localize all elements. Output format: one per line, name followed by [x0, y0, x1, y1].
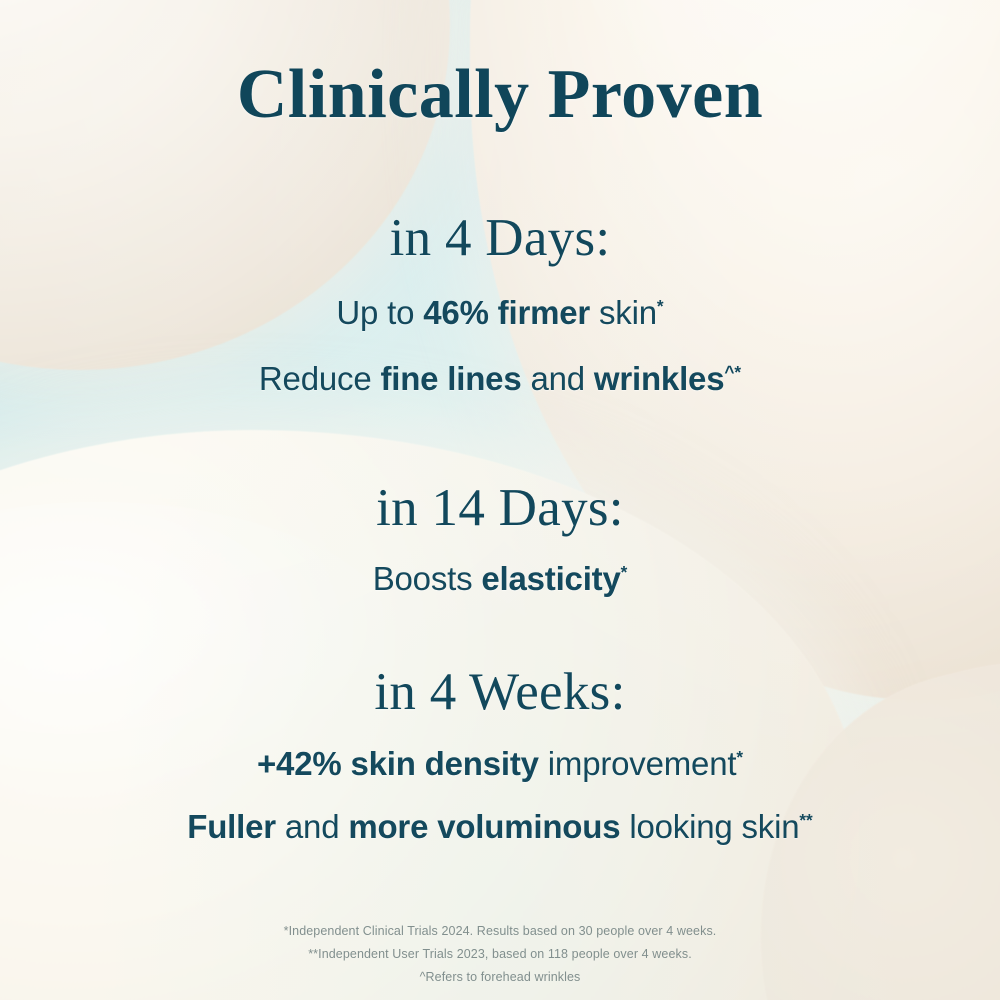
claim-text-segment: Reduce — [259, 360, 381, 397]
footnote-marker: * — [621, 562, 628, 582]
claim-bold-segment: fine lines — [380, 360, 521, 397]
stage-heading-14-days: in 14 Days: — [0, 478, 1000, 538]
claim-firmer-skin: Up to 46% firmer skin* — [0, 294, 1000, 332]
claim-bold-segment: 46% firmer — [423, 294, 590, 331]
claim-fine-lines-wrinkles: Reduce fine lines and wrinkles^* — [0, 360, 1000, 398]
stage-heading-4-weeks: in 4 Weeks: — [0, 662, 1000, 722]
footnote-marker: * — [657, 296, 664, 316]
claim-text-segment: skin — [590, 294, 657, 331]
page-title: Clinically Proven — [0, 58, 1000, 132]
claim-text-segment: and — [521, 360, 593, 397]
footnote-line: *Independent Clinical Trials 2024. Resul… — [0, 920, 1000, 943]
claim-fuller-voluminous: Fuller and more voluminous looking skin*… — [0, 808, 1000, 846]
footnote-marker: ** — [799, 810, 812, 830]
claim-text-segment: Boosts — [373, 560, 482, 597]
claim-skin-density: +42% skin density improvement* — [0, 745, 1000, 783]
footnote-line: **Independent User Trials 2023, based on… — [0, 943, 1000, 966]
claim-text-segment: improvement — [539, 745, 737, 782]
claim-text-segment: Up to — [336, 294, 423, 331]
footnotes-block: *Independent Clinical Trials 2024. Resul… — [0, 920, 1000, 989]
footnote-line: ^Refers to forehead wrinkles — [0, 966, 1000, 989]
claim-bold-segment: more voluminous — [348, 808, 620, 845]
claim-boosts-elasticity: Boosts elasticity* — [0, 560, 1000, 598]
claim-bold-segment: Fuller — [187, 808, 276, 845]
poster-content: Clinically Proven in 4 Days: Up to 46% f… — [0, 0, 1000, 1000]
claim-text-segment: looking skin — [620, 808, 799, 845]
claim-bold-segment: wrinkles — [594, 360, 724, 397]
claim-bold-segment: +42% skin density — [257, 745, 539, 782]
footnote-marker: * — [736, 747, 743, 767]
clinical-claims-poster: Clinically Proven in 4 Days: Up to 46% f… — [0, 0, 1000, 1000]
stage-heading-4-days: in 4 Days: — [0, 208, 1000, 268]
footnote-marker: ^* — [724, 362, 741, 382]
claim-bold-segment: elasticity — [481, 560, 620, 597]
claim-text-segment: and — [276, 808, 348, 845]
